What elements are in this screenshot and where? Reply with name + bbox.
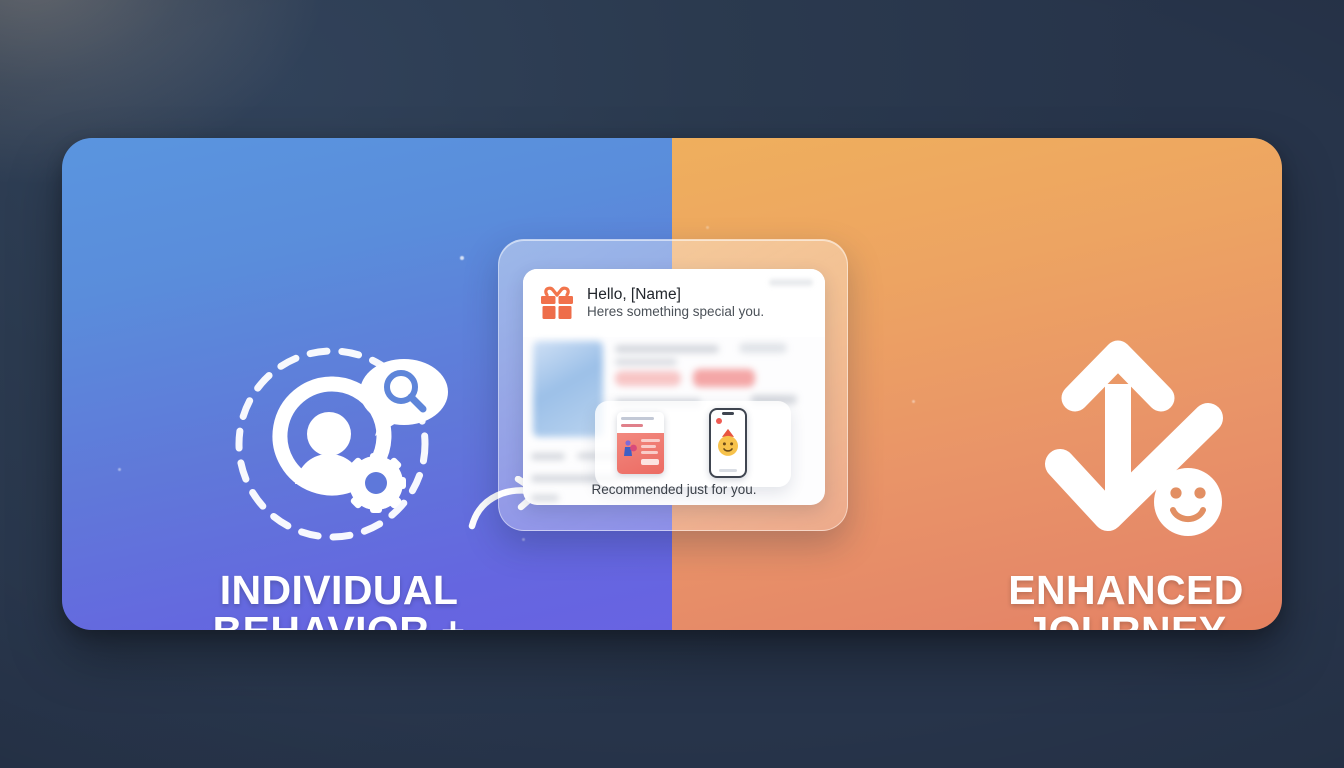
phone-home-indicator (719, 469, 737, 472)
left-headline-line: INDIVIDUAL (124, 570, 554, 611)
email-thumb-line (641, 445, 656, 448)
card-header: Hello, [Name] Heres something special yo… (523, 269, 825, 337)
user-profile-settings-search-icon (222, 336, 454, 550)
body-image-placeholder (533, 341, 603, 437)
right-headline-line: JOURNEY (920, 611, 1282, 630)
email-thumb-button (641, 459, 659, 465)
gift-icon (539, 286, 575, 320)
body-text-line (615, 345, 719, 353)
card-footer-text: Recommended just for you. (523, 482, 825, 497)
party-emoji-icon (715, 428, 741, 457)
particle-dot (460, 256, 464, 260)
email-thumb-illustration (622, 439, 637, 459)
email-preview-thumbnail[interactable] (617, 412, 664, 474)
email-thumb-line (641, 451, 658, 454)
email-thumb-line (621, 417, 654, 420)
body-accent-pill (739, 343, 787, 353)
subgreeting-text: Heres something special you. (587, 304, 764, 320)
left-headline: INDIVIDUAL BEHAVIOR + PREFERENCES (124, 570, 554, 630)
email-thumb-header (617, 412, 664, 433)
particle-dot (118, 468, 121, 471)
particle-dot (522, 538, 525, 541)
body-accent-pill (693, 369, 755, 387)
particle-dot (706, 226, 709, 229)
right-headline-line: ENHANCED (920, 570, 1282, 611)
personalization-preview-card: Hello, [Name] Heres something special yo… (498, 239, 848, 531)
right-headline: ENHANCED JOURNEY (920, 570, 1282, 630)
phone-preview-thumbnail[interactable] (709, 408, 747, 478)
email-thumb-line (641, 439, 660, 442)
body-text-line (615, 359, 677, 365)
growth-arrow-check-smiley-icon (1030, 336, 1244, 548)
particle-dot (912, 400, 915, 403)
email-thumb-line (621, 424, 643, 427)
card-header-text: Hello, [Name] Heres something special yo… (587, 286, 764, 320)
notification-badge (716, 418, 722, 424)
notification-card: Hello, [Name] Heres something special yo… (523, 269, 825, 505)
body-text-line (531, 453, 565, 460)
recommendation-thumbnail-strip (595, 401, 791, 487)
greeting-text: Hello, [Name] (587, 286, 764, 303)
phone-notch (722, 412, 734, 415)
body-accent-pill (615, 371, 681, 386)
header-placeholder-dots (769, 279, 813, 286)
left-headline-line: BEHAVIOR + (124, 611, 554, 630)
comparison-panel: INDIVIDUAL BEHAVIOR + PREFERENCES ENHANC… (62, 138, 1282, 630)
